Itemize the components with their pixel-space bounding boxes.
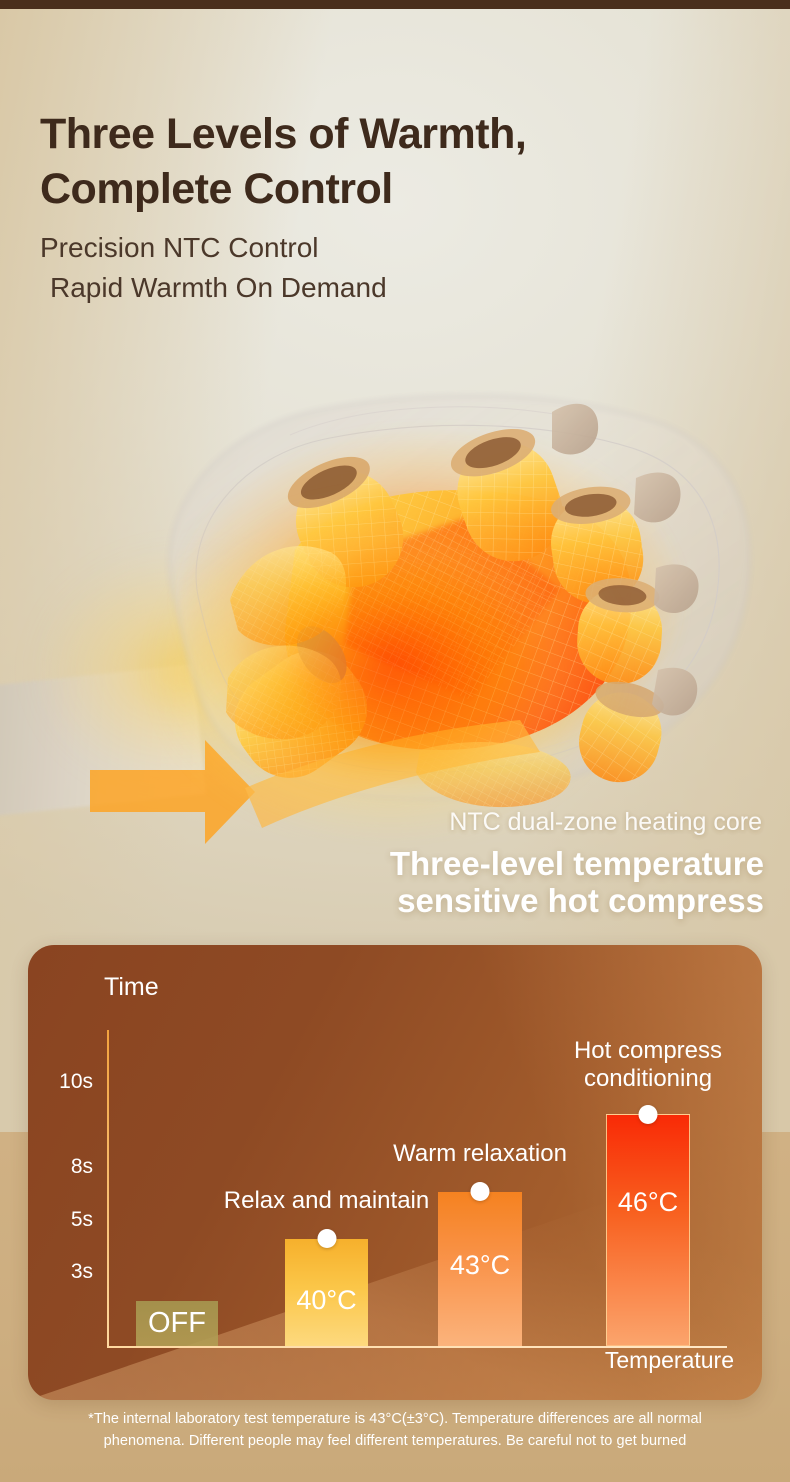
y-axis-line (107, 1030, 109, 1348)
hero-title-line-2: sensitive hot compress (4, 882, 764, 919)
subhead-line-1: Precision NTC Control (40, 232, 319, 263)
page-subtitle: Precision NTC Control Rapid Warmth On De… (40, 228, 740, 309)
y-tick-label-8s: 8s (33, 1155, 93, 1179)
headline-line-1: Three Levels of Warmth, (40, 110, 526, 158)
bar-annotation-40c: Relax and maintain (224, 1187, 429, 1215)
bar-off: OFF (136, 1301, 218, 1346)
bar-40c: Relax and maintain 40°C (285, 1239, 368, 1346)
footnote-line-1: *The internal laboratory test temperatur… (88, 1411, 702, 1427)
temperature-levels-chart-card: Time Temperature 10s 8s 5s 3s OFF Relax … (28, 945, 762, 1400)
subhead-line-2: Rapid Warmth On Demand (40, 268, 740, 308)
bar-annotation-43c: Warm relaxation (393, 1140, 567, 1168)
bar-marker-43c (471, 1182, 490, 1201)
headline-line-2: Complete Control (40, 162, 740, 217)
top-accent-bar (0, 0, 790, 9)
bar-label-40c: 40°C (285, 1285, 368, 1316)
bar-annotation-46c-line-2: conditioning (584, 1065, 712, 1092)
y-tick-label-3s: 3s (33, 1260, 93, 1284)
page-title: Three Levels of Warmth, Complete Control (40, 107, 740, 217)
x-axis-title: Temperature (605, 1347, 734, 1374)
y-axis-title: Time (104, 973, 159, 1002)
x-axis-line (107, 1346, 727, 1348)
hero-title-line-1: Three-level temperature (390, 845, 764, 882)
product-detail-page: Three Levels of Warmth, Complete Control… (0, 0, 790, 1482)
disclaimer-footnote: *The internal laboratory test temperatur… (0, 1408, 790, 1453)
bar-annotation-46c-line-1: Hot compress (574, 1037, 722, 1064)
bar-label-off: OFF (136, 1307, 218, 1340)
bar-43c: Warm relaxation 43°C (438, 1192, 522, 1346)
bar-label-43c: 43°C (438, 1250, 522, 1281)
hero-title: Three-level temperature sensitive hot co… (4, 845, 764, 920)
chart-plot-area: 10s 8s 5s 3s OFF Relax and maintain 40°C… (107, 1030, 727, 1348)
bar-marker-40c (317, 1229, 336, 1248)
glow-core (150, 470, 650, 850)
bar-label-46c: 46°C (607, 1187, 689, 1218)
bar-marker-46c (639, 1105, 658, 1124)
bar-46c: Hot compress conditioning 46°C (606, 1114, 690, 1346)
bar-annotation-46c: Hot compress conditioning (566, 1037, 731, 1093)
heating-glove-illustration (0, 300, 790, 940)
footnote-line-2: phenomena. Different people may feel dif… (0, 1430, 790, 1452)
hero-caption: NTC dual-zone heating core (449, 808, 762, 837)
y-tick-label-10s: 10s (33, 1070, 93, 1094)
y-tick-label-5s: 5s (33, 1208, 93, 1232)
